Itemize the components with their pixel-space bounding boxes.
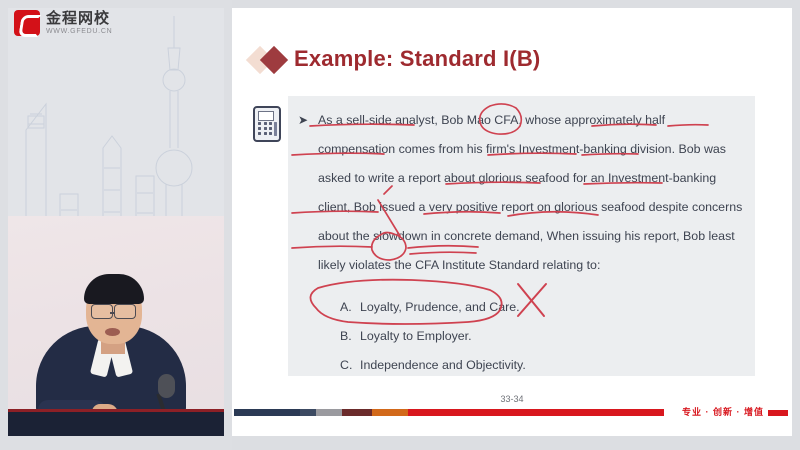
brand-logo-text: 金程网校 WWW.GFEDU.CN [46,11,112,35]
brand-logo: 金程网校 WWW.GFEDU.CN [14,10,112,36]
footer-color-bar [234,409,664,416]
microphone-icon [158,374,175,398]
brand-website: WWW.GFEDU.CN [46,28,112,35]
presenter-video[interactable] [8,8,224,436]
option-c-text: Independence and Objectivity. [360,358,526,372]
question-body: ➤ As a sell-side analyst, Bob Mao CFA, w… [298,106,743,280]
presenter-pane: 金程网校 WWW.GFEDU.CN [0,0,232,450]
gfedu-logo-icon [14,10,40,36]
option-b[interactable]: B.Loyalty to Employer. [340,322,743,351]
presenter-mouth [105,328,120,336]
calculator-screen [258,111,274,121]
option-a[interactable]: A.Loyalty, Prudence, and Care. [340,293,743,322]
bullet-arrow-icon: ➤ [298,106,308,135]
presenter-desk [8,409,224,436]
brand-tagline: 专业 · 创新 · 增值 [682,405,764,418]
question-text: As a sell-side analyst, Bob Mao CFA, who… [318,106,743,280]
option-a-text: Loyalty, Prudence, and Care. [360,300,520,314]
slide-canvas: Example: Standard I(B) ➤ As a sell-side … [232,8,792,436]
option-a-letter: A. [340,293,360,322]
tagline-accent-bar [768,410,788,416]
option-b-letter: B. [340,322,360,351]
calculator-icon [253,106,281,142]
option-c[interactable]: C.Independence and Objectivity. [340,351,743,380]
option-b-text: Loyalty to Employer. [360,329,472,343]
slide-footer: 33-34 专业 · 创新 · 增值 [232,394,792,424]
page-title: Example: Standard I(B) [294,46,540,72]
option-c-letter: C. [340,351,360,380]
page-number: 33-34 [232,394,792,404]
answer-options: A.Loyalty, Prudence, and Care. B.Loyalty… [340,293,743,380]
question-content-box: ➤ As a sell-side analyst, Bob Mao CFA, w… [288,96,755,376]
glasses-bridge [110,312,115,314]
slide-title-row: Example: Standard I(B) [250,46,540,72]
glasses-lens-right [114,304,136,319]
slide-player-screen: 金程网校 WWW.GFEDU.CN Example: Standard I(B) [0,0,800,450]
brand-name-cn: 金程网校 [46,11,112,26]
